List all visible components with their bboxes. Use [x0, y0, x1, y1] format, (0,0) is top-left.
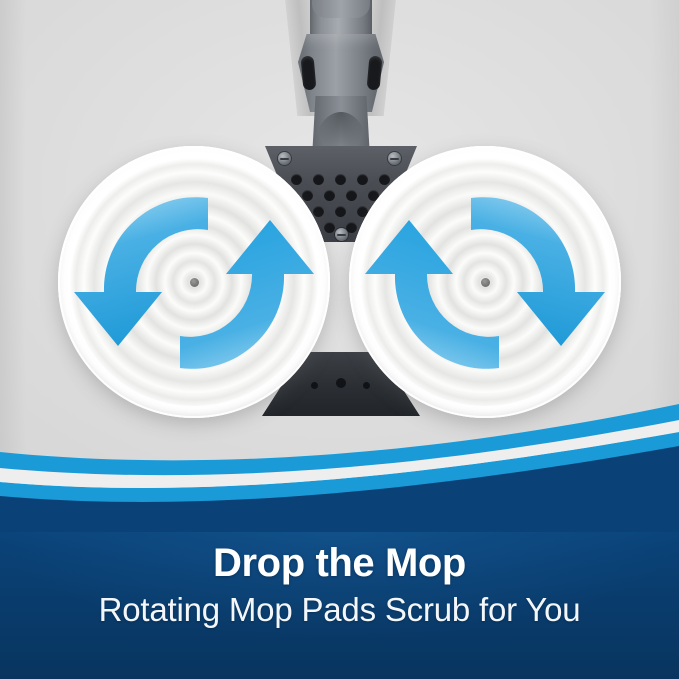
wave-divider — [0, 412, 679, 532]
vent-hole-icon — [335, 174, 346, 185]
handle-top-cap — [312, 0, 370, 18]
rotation-arrow-left — [58, 146, 330, 418]
mop-pad-left — [58, 146, 330, 418]
product-feature-poster: Drop the Mop Rotating Mop Pads Scrub for… — [0, 0, 679, 679]
subheadline: Rotating Mop Pads Scrub for You — [0, 591, 679, 629]
headline: Drop the Mop — [0, 541, 679, 586]
vent-hole-icon — [335, 206, 346, 217]
mop-pad-right — [349, 146, 621, 418]
wedge-hole-center — [336, 378, 346, 388]
rotation-arrow-right — [349, 146, 621, 418]
